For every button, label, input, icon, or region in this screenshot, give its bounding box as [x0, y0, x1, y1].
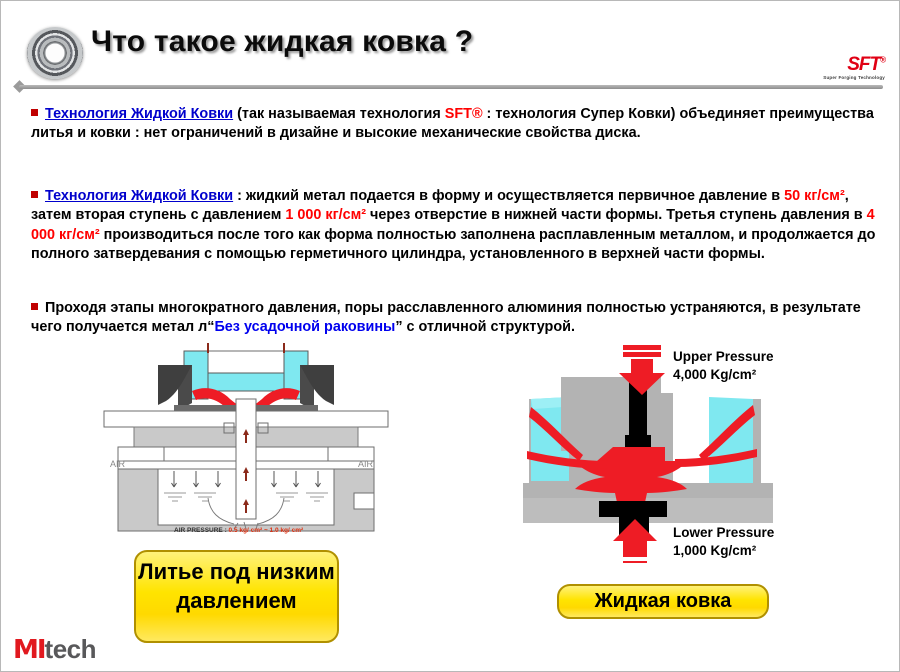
- link-liquid-forging-technology-1[interactable]: Технология Жидкой Ковки: [45, 106, 233, 122]
- bullet-icon: [31, 303, 38, 310]
- paragraph-2-text-c: через отверстие в нижней части формы. Тр…: [366, 207, 867, 223]
- upper-pressure-title: Upper Pressure: [673, 349, 774, 364]
- sft-logo-subtitle: Super Forging Technology: [795, 75, 885, 80]
- sft-logo-registered: ®: [880, 56, 885, 65]
- mitech-logo: MItech: [13, 636, 96, 663]
- paragraph-1-highlight: SFT®: [445, 106, 483, 122]
- link-liquid-forging-technology-2[interactable]: Технология Жидкой Ковки: [45, 188, 233, 204]
- paragraph-1: Технология Жидкой Ковки (так называемая …: [31, 105, 876, 144]
- lower-pressure-value: 1,000 Kg/cm²: [673, 543, 757, 558]
- sft-logo: SFT® Super Forging Technology: [795, 55, 885, 80]
- sft-logo-main: SFT®: [795, 55, 885, 74]
- air-pressure-label: AIR PRESSURE : 0.5 kg/ cm² ~ 1.0 kg/ cm²: [174, 527, 303, 534]
- low-pressure-casting-svg: AIR AIR: [96, 343, 396, 553]
- paragraph-3-highlight: Без усадочной раковины: [214, 319, 395, 335]
- wheel-hub: [45, 43, 66, 64]
- page-title: Что такое жидкая ковка ?: [91, 25, 473, 59]
- pressure-value-first-stage: 50 кг/см²: [784, 188, 845, 204]
- slide: Что такое жидкая ковка ? SFT® Super Forg…: [0, 0, 900, 672]
- liquid-forging-diagram: Upper Pressure 4,000 Kg/cm² Lower Pressu…: [501, 343, 801, 568]
- lower-pressure-title: Lower Pressure: [673, 525, 775, 540]
- low-pressure-casting-diagram: AIR AIR AIR PRESSURE : 0.5 kg/ cm² ~ 1.0…: [96, 343, 396, 553]
- air-pressure-value: 0.5 kg/ cm² ~ 1.0 kg/ cm²: [229, 527, 304, 534]
- air-label-left: AIR: [110, 459, 126, 469]
- paragraph-2-text-a: : жидкий метал подается в форму и осущес…: [233, 188, 784, 204]
- mitech-logo-tech: tech: [45, 634, 96, 664]
- paragraph-3-text-b: с отличной структурой.: [403, 319, 575, 335]
- pressure-value-second-stage: 1 000 кг/см²: [285, 207, 366, 223]
- paragraph-2-text-d: производиться после того как форма полно…: [31, 227, 875, 262]
- paragraph-2: Технология Жидкой Ковки : жидкий метал п…: [31, 187, 881, 265]
- bullet-icon: [31, 191, 38, 198]
- callout-liquid-forging: Жидкая ковка: [557, 584, 769, 619]
- bullet-icon: [31, 109, 38, 116]
- wheel-rim-icon: [27, 27, 83, 79]
- mitech-logo-mi: MI: [13, 635, 45, 665]
- slide-header: Что такое жидкая ковка ? SFT® Super Forg…: [1, 1, 900, 93]
- paragraph-3-quote-close: ”: [395, 319, 402, 335]
- paragraph-1-text-a: (так называемая технология: [233, 106, 445, 122]
- upper-pressure-value: 4,000 Kg/cm²: [673, 367, 757, 382]
- callout-low-pressure-casting: Литье под низким давлением: [134, 550, 339, 643]
- paragraph-3: Проходя этапы многократного давления, по…: [31, 299, 881, 338]
- air-pressure-prefix: AIR PRESSURE :: [174, 527, 229, 534]
- header-divider: [19, 85, 883, 89]
- liquid-forging-svg: Upper Pressure 4,000 Kg/cm² Lower Pressu…: [501, 343, 801, 568]
- sft-logo-text: SFT: [847, 54, 880, 75]
- air-label-right: AIR: [358, 459, 374, 469]
